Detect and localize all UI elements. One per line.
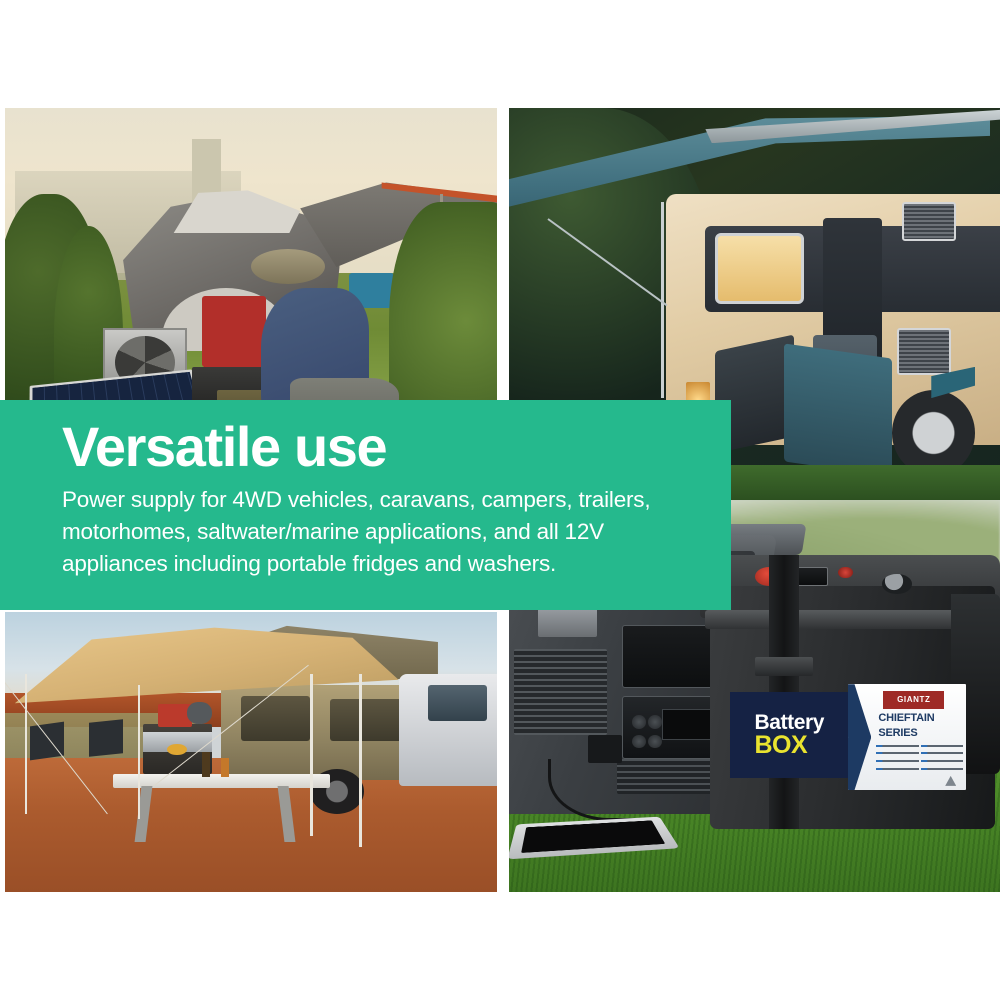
tow-vehicle-window	[428, 685, 487, 721]
feature-line	[876, 745, 919, 747]
panel-description: Power supply for 4WD vehicles, caravans,…	[62, 484, 672, 580]
giantz-brand-mark: GIANTZ	[883, 691, 944, 709]
camp-chair	[202, 296, 266, 367]
product-banner: Battery BOX GIANTZ CHIEFTAIN SERIES Vers…	[0, 0, 1000, 1000]
chieftain-feature-list	[876, 745, 963, 775]
tent-window-left	[241, 696, 310, 741]
caravan-window	[715, 233, 803, 304]
chieftain-series-label: GIANTZ CHIEFTAIN SERIES	[848, 684, 966, 790]
kettle	[187, 702, 212, 724]
tablet-screen	[521, 820, 665, 852]
fridge-button-set[interactable]	[648, 735, 662, 748]
feature-line	[876, 752, 919, 754]
battery-box-strap-buckle	[755, 657, 814, 677]
awning-pole-a	[25, 674, 27, 814]
versatile-use-panel: Versatile use Power supply for 4WD vehic…	[0, 400, 731, 610]
feature-line	[921, 760, 964, 762]
yellow-bowl	[167, 744, 187, 755]
feature-line	[921, 745, 964, 747]
compliance-triangle-icon	[945, 776, 956, 786]
fridge-button-down[interactable]	[648, 715, 662, 728]
battery-box-label-line1: Battery	[754, 713, 847, 733]
awning-pole-d	[359, 674, 362, 848]
battery-box-label-line2: BOX	[754, 733, 847, 758]
outback-chair-right	[89, 719, 123, 756]
feature-line	[876, 760, 919, 762]
fridge-handle	[538, 606, 597, 637]
feature-line	[876, 768, 919, 770]
fridge-button-mode[interactable]	[632, 735, 646, 748]
tent-window-right	[330, 699, 409, 741]
chieftain-label-line1: CHIEFTAIN	[878, 713, 934, 724]
caravan-vent-upper	[902, 202, 956, 241]
camp-chair-teal	[784, 343, 892, 476]
fridge-display-screen	[662, 709, 711, 739]
outback-chair-left	[30, 722, 64, 760]
person-hat	[251, 249, 325, 284]
chevron-graphic	[848, 684, 872, 790]
feature-line	[921, 752, 964, 754]
awning-pole-b	[138, 685, 140, 819]
page-title: Versatile use	[62, 418, 691, 476]
chieftain-label-line2: SERIES	[878, 728, 917, 739]
feature-line	[921, 768, 964, 770]
battery-box-switch[interactable]	[838, 567, 853, 579]
fridge-button-up[interactable]	[632, 715, 646, 728]
bottle-dark	[202, 752, 210, 777]
caravan-vent-lower	[897, 328, 951, 375]
battery-box-label: Battery BOX	[730, 692, 848, 778]
battery-box-cigarette-socket	[882, 574, 911, 594]
awning-pole-c	[310, 674, 313, 836]
photo-outback-camper	[5, 612, 497, 892]
bottle-amber	[221, 758, 229, 778]
fridge-vent-grill	[514, 649, 607, 735]
